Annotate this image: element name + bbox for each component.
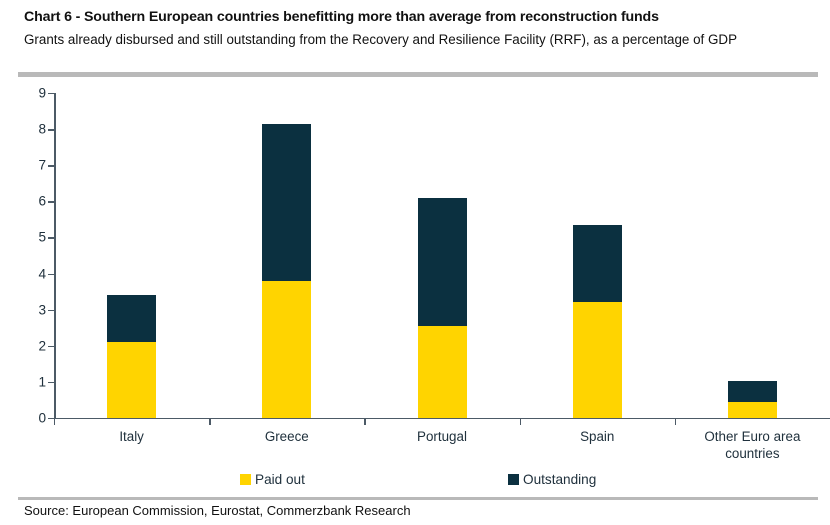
legend-swatch-icon [240, 474, 251, 485]
bar-segment-paid-out[interactable] [107, 342, 156, 418]
category-label-line: Greece [209, 429, 364, 446]
category-label-line: Portugal [364, 429, 519, 446]
legend-label: Paid out [255, 472, 305, 487]
plot-area: 0123456789 ItalyGreecePortugalSpainOther… [0, 0, 830, 525]
x-axis-category-label: Other Euro areacountries [675, 429, 830, 462]
category-label-line: Spain [520, 429, 675, 446]
bar-segment-outstanding[interactable] [418, 198, 467, 326]
category-label-line: Italy [54, 429, 209, 446]
bar-stack[interactable] [728, 381, 777, 418]
category-label-line: Other Euro area [675, 429, 830, 446]
footer-divider [18, 497, 818, 500]
legend-label: Outstanding [523, 472, 596, 487]
legend-swatch-icon [508, 474, 519, 485]
bar-stack[interactable] [107, 295, 156, 418]
bar-segment-paid-out[interactable] [262, 281, 311, 418]
bar-stack[interactable] [418, 198, 467, 418]
bar-segment-outstanding[interactable] [262, 124, 311, 281]
chart-page: Chart 6 - Southern European countries be… [0, 0, 830, 525]
legend-item-outstanding[interactable]: Outstanding [508, 472, 596, 487]
bar-segment-outstanding[interactable] [728, 381, 777, 402]
bar-segment-paid-out[interactable] [573, 302, 622, 418]
x-axis-category-label: Italy [54, 429, 209, 446]
bar-segment-paid-out[interactable] [418, 326, 467, 418]
category-label-line: countries [675, 446, 830, 463]
bar-segment-paid-out[interactable] [728, 402, 777, 418]
bar-segment-outstanding[interactable] [107, 295, 156, 342]
bar-stack[interactable] [262, 124, 311, 418]
legend-item-paid-out[interactable]: Paid out [240, 472, 305, 487]
bar-segment-outstanding[interactable] [573, 225, 622, 303]
x-axis-category-label: Spain [520, 429, 675, 446]
chart-legend: Paid outOutstanding [0, 472, 830, 492]
source-note: Source: European Commission, Eurostat, C… [24, 503, 411, 518]
x-axis-category-label: Greece [209, 429, 364, 446]
bar-stack[interactable] [573, 225, 622, 418]
x-axis-category-label: Portugal [364, 429, 519, 446]
